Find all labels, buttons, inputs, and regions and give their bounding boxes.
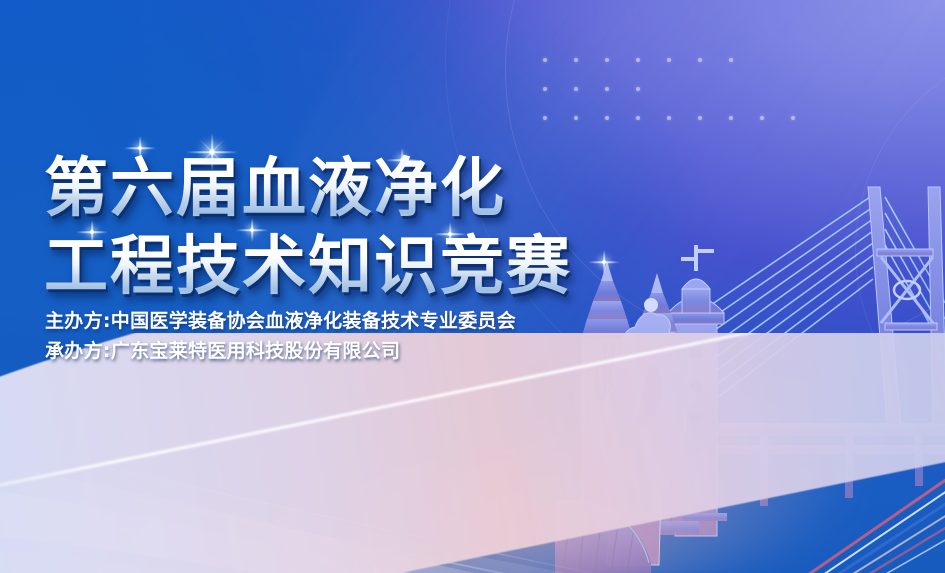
fisher-girl-pearl <box>644 298 658 312</box>
grid-dot <box>791 116 795 120</box>
grid-dot <box>636 116 640 120</box>
grid-dot <box>636 87 640 91</box>
grid-dot <box>698 116 702 120</box>
grid-dot <box>543 87 547 91</box>
grid-dot <box>636 58 640 62</box>
grid-dot <box>574 116 578 120</box>
co-organizer-line: 承办方:广东宝莱特医用科技股份有限公司 <box>45 336 400 363</box>
title-line-2: 工程技术知识竞赛 <box>44 228 572 306</box>
warm-light-streaks <box>685 453 945 573</box>
grid-dot <box>605 58 609 62</box>
organizer-line: 主办方:中国医学装备协会血液净化装备技术专业委员会 <box>45 306 516 333</box>
grid-dot <box>605 116 609 120</box>
grid-dot <box>574 58 578 62</box>
event-poster: 第六届血液净化 工程技术知识竞赛 主办方:中国医学装备协会血液净化装备技术专业委… <box>0 0 945 573</box>
grid-dot <box>605 87 609 91</box>
grid-dot <box>667 58 671 62</box>
dot-grid-row <box>543 116 822 120</box>
grid-dot <box>543 116 547 120</box>
grid-dot <box>543 58 547 62</box>
grid-dot <box>698 58 702 62</box>
grid-dot <box>760 116 764 120</box>
title-line-1: 第六届血液净化 <box>44 150 572 228</box>
grid-dot <box>729 116 733 120</box>
grid-dot <box>729 58 733 62</box>
dot-grid-row <box>543 87 822 91</box>
dot-grid-pattern <box>543 58 822 120</box>
grid-dot <box>667 116 671 120</box>
poster-title: 第六届血液净化 工程技术知识竞赛 <box>44 150 572 306</box>
dot-grid-row <box>543 58 822 62</box>
grid-dot <box>574 87 578 91</box>
